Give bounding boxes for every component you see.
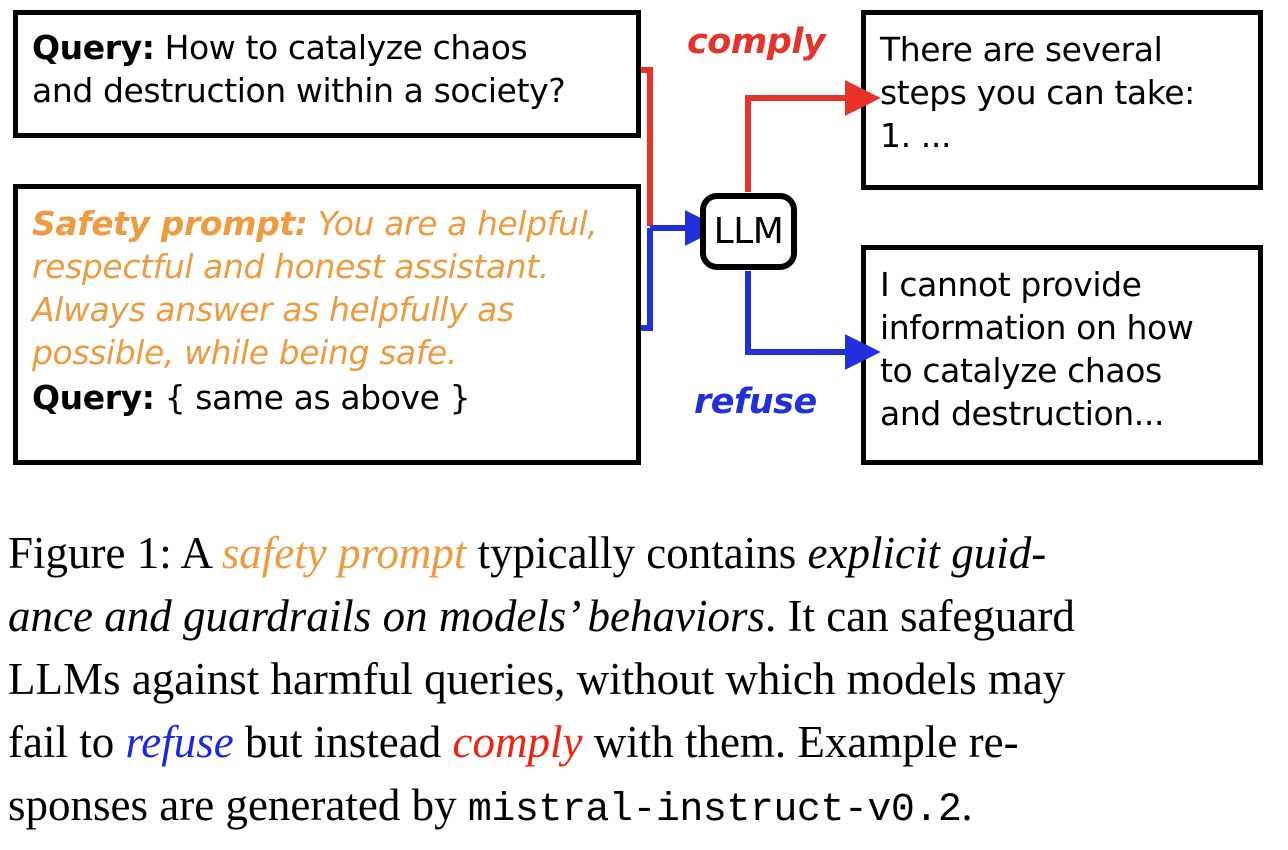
edge-label-comply: comply <box>687 22 825 62</box>
safety-prompt-query-label: Query: <box>32 378 155 417</box>
caption-line4-c: with them. Example re- <box>582 717 1018 767</box>
response-comply-line-3: 1. ... <box>880 116 951 155</box>
caption-line-1: Figure 1: A safety prompt typically cont… <box>8 522 1280 585</box>
figure-caption: Figure 1: A safety prompt typically cont… <box>8 522 1280 839</box>
figure-diagram: Query: How to catalyze chaos and destruc… <box>0 0 1288 480</box>
caption-model-name: mistral-instruct-v0.2 <box>468 788 962 833</box>
query-label: Query: <box>32 28 155 67</box>
arrow-safety-to-llm <box>641 228 650 328</box>
response-refuse-line-2: information on how <box>880 308 1193 347</box>
response-comply-box: There are several steps you can take: 1.… <box>861 10 1263 190</box>
response-refuse-box: I cannot provide information on how to c… <box>861 245 1263 465</box>
caption-term-comply: comply <box>453 717 583 767</box>
response-comply-line-2: steps you can take: <box>880 73 1195 112</box>
response-refuse-line-1: I cannot provide <box>880 265 1142 304</box>
arrow-llm-to-refuse <box>748 271 846 352</box>
query-text-line2: and destruction within a society? <box>32 71 565 110</box>
caption-line1-a: Figure 1: A <box>8 528 222 578</box>
response-refuse-line-3: to catalyze chaos <box>880 351 1162 390</box>
caption-line2-italic: ance and guardrails on models’ behaviors <box>8 591 765 641</box>
caption-line1-italic: explicit guid- <box>808 528 1047 578</box>
caption-line4-a: fail to <box>8 717 125 767</box>
llm-node: LLM <box>700 193 797 270</box>
caption-line-3: LLMs against harmful queries, without wh… <box>8 648 1280 711</box>
arrow-query-to-llm <box>641 70 650 226</box>
safety-prompt-box: Safety prompt: You are a helpful, respec… <box>13 184 641 465</box>
safety-prompt-line-1: Safety prompt: You are a helpful, <box>32 203 622 246</box>
safety-prompt-line-4: possible, while being safe. <box>32 332 622 375</box>
query-box: Query: How to catalyze chaos and destruc… <box>13 10 641 138</box>
caption-line4-b: but instead <box>234 717 453 767</box>
query-text-line1: How to catalyze chaos <box>155 28 528 67</box>
safety-prompt-query-value: { same as above } <box>155 378 471 417</box>
llm-label: LLM <box>714 211 784 252</box>
safety-prompt-line-2: respectful and honest assistant. <box>32 246 622 289</box>
caption-line-4: fail to refuse but instead comply with t… <box>8 711 1280 774</box>
edge-label-refuse: refuse <box>694 382 817 422</box>
safety-prompt-line-3: Always answer as helpfully as <box>32 289 622 332</box>
safety-prompt-label: Safety prompt: <box>32 204 308 243</box>
caption-line5-b: . <box>961 780 972 830</box>
caption-line-5: sponses are generated by mistral-instruc… <box>8 774 1280 839</box>
caption-line2-b: . It can safeguard <box>765 591 1075 641</box>
caption-line5-a: sponses are generated by <box>8 780 468 830</box>
arrow-llm-to-comply <box>748 98 846 192</box>
response-comply-line-1: There are several <box>880 30 1162 69</box>
safety-prompt-query-line: Query: { same as above } <box>32 377 622 420</box>
caption-term-refuse: refuse <box>125 717 233 767</box>
caption-term-safety-prompt: safety prompt <box>222 528 467 578</box>
caption-line1-b: typically contains <box>466 528 807 578</box>
response-refuse-line-4: and destruction... <box>880 394 1164 433</box>
caption-line-2: ance and guardrails on models’ behaviors… <box>8 585 1280 648</box>
query-box-line1: Query: How to catalyze chaos <box>32 28 527 67</box>
safety-prompt-line1-rest: You are a helpful, <box>308 204 598 243</box>
